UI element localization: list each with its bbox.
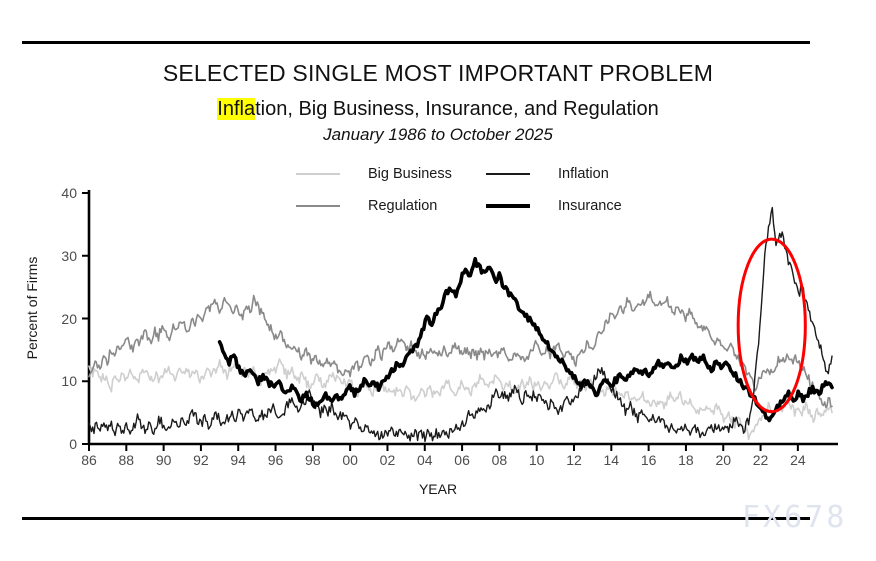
- y-tick-10: 10: [43, 373, 77, 389]
- x-tick-96: 96: [261, 452, 291, 468]
- x-tick-08: 08: [484, 452, 514, 468]
- x-tick-20: 20: [708, 452, 738, 468]
- x-tick-06: 06: [447, 452, 477, 468]
- x-tick-98: 98: [298, 452, 328, 468]
- x-axis-title: YEAR: [0, 481, 876, 497]
- series-inflation: [89, 208, 832, 442]
- x-tick-24: 24: [783, 452, 813, 468]
- x-tick-90: 90: [149, 452, 179, 468]
- chart-figure: SELECTED SINGLE MOST IMPORTANT PROBLEM I…: [0, 0, 876, 556]
- x-tick-88: 88: [111, 452, 141, 468]
- y-tick-30: 30: [43, 248, 77, 264]
- x-tick-10: 10: [522, 452, 552, 468]
- watermark: FX678: [742, 500, 847, 535]
- x-tick-12: 12: [559, 452, 589, 468]
- x-tick-00: 00: [335, 452, 365, 468]
- x-tick-04: 04: [410, 452, 440, 468]
- x-tick-92: 92: [186, 452, 216, 468]
- x-tick-14: 14: [596, 452, 626, 468]
- y-tick-0: 0: [43, 436, 77, 452]
- plot-area: Percent of Firms YEAR 010203040 86889092…: [0, 0, 876, 556]
- annotation-ellipse: [738, 239, 805, 412]
- x-tick-22: 22: [746, 452, 776, 468]
- plot-svg: [0, 0, 876, 556]
- x-tick-02: 02: [372, 452, 402, 468]
- series-regulation: [89, 292, 832, 408]
- x-tick-86: 86: [74, 452, 104, 468]
- y-tick-20: 20: [43, 311, 77, 327]
- x-tick-16: 16: [634, 452, 664, 468]
- series-insurance: [220, 259, 832, 421]
- y-tick-40: 40: [43, 185, 77, 201]
- y-axis-title: Percent of Firms: [24, 238, 40, 378]
- x-tick-94: 94: [223, 452, 253, 468]
- x-tick-18: 18: [671, 452, 701, 468]
